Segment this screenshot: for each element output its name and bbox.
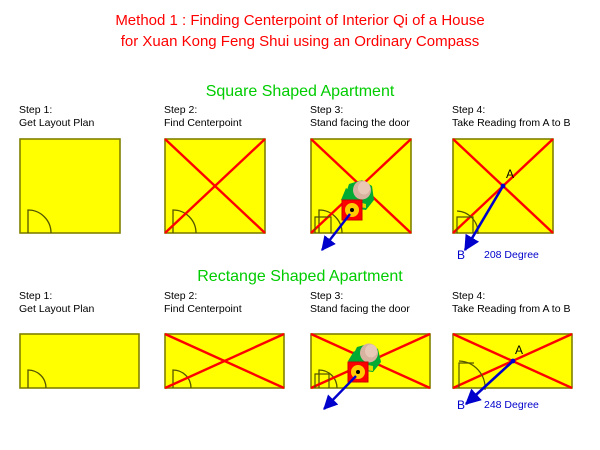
page-title: Method 1 : Finding Centerpoint of Interi… [0, 10, 600, 52]
step-number: Step 3: [310, 104, 410, 117]
step-number: Step 4: [452, 104, 570, 117]
step-caption: Stand facing the door [310, 117, 410, 130]
compass-icon [342, 200, 362, 220]
step-caption: Find Centerpoint [164, 117, 242, 130]
diagram-rect-step2 [164, 333, 290, 395]
reading-value-rect: 248 Degree [484, 399, 539, 411]
step-label-square-4: Step 4: Take Reading from A to B [452, 104, 570, 129]
step-number: Step 3: [310, 290, 410, 303]
step-label-rect-4: Step 4: Take Reading from A to B [452, 290, 570, 315]
page-title-line-1: Method 1 : Finding Centerpoint of Interi… [0, 10, 600, 31]
point-a-label: A [515, 343, 523, 357]
step-caption: Take Reading from A to B [452, 303, 570, 316]
point-a-marker [501, 184, 506, 189]
section-heading-square: Square Shaped Apartment [0, 83, 600, 101]
step-number: Step 2: [164, 104, 242, 117]
step-label-square-2: Step 2: Find Centerpoint [164, 104, 242, 129]
step-label-square-1: Step 1: Get Layout Plan [19, 104, 94, 129]
point-a-marker [511, 359, 516, 364]
diagram-rect-step3 [310, 333, 440, 423]
step-number: Step 4: [452, 290, 570, 303]
step-caption: Get Layout Plan [19, 117, 94, 130]
point-a-label: A [506, 167, 514, 181]
floor-plan-square [20, 139, 120, 233]
compass-icon [348, 362, 368, 382]
reading-value-square: 208 Degree [484, 249, 539, 261]
diagram-square-step3 [310, 138, 430, 260]
page-title-line-2: for Xuan Kong Feng Shui using an Ordinar… [0, 31, 600, 52]
step-number: Step 1: [19, 290, 94, 303]
step-label-rect-1: Step 1: Get Layout Plan [19, 290, 94, 315]
diagram-rect-step1 [19, 333, 145, 395]
step-caption: Find Centerpoint [164, 303, 242, 316]
point-b-label-rect: B [457, 398, 465, 412]
step-caption: Take Reading from A to B [452, 117, 570, 130]
step-label-square-3: Step 3: Stand facing the door [310, 104, 410, 129]
step-number: Step 1: [19, 104, 94, 117]
step-caption: Stand facing the door [310, 303, 410, 316]
step-number: Step 2: [164, 290, 242, 303]
section-heading-rectangle: Rectange Shaped Apartment [0, 268, 600, 286]
diagram-square-step1 [19, 138, 125, 236]
floor-plan-rectangle [20, 334, 139, 388]
step-label-rect-2: Step 2: Find Centerpoint [164, 290, 242, 315]
point-b-label-square: B [457, 248, 465, 262]
step-label-rect-3: Step 3: Stand facing the door [310, 290, 410, 315]
step-caption: Get Layout Plan [19, 303, 94, 316]
diagram-square-step2 [164, 138, 270, 236]
